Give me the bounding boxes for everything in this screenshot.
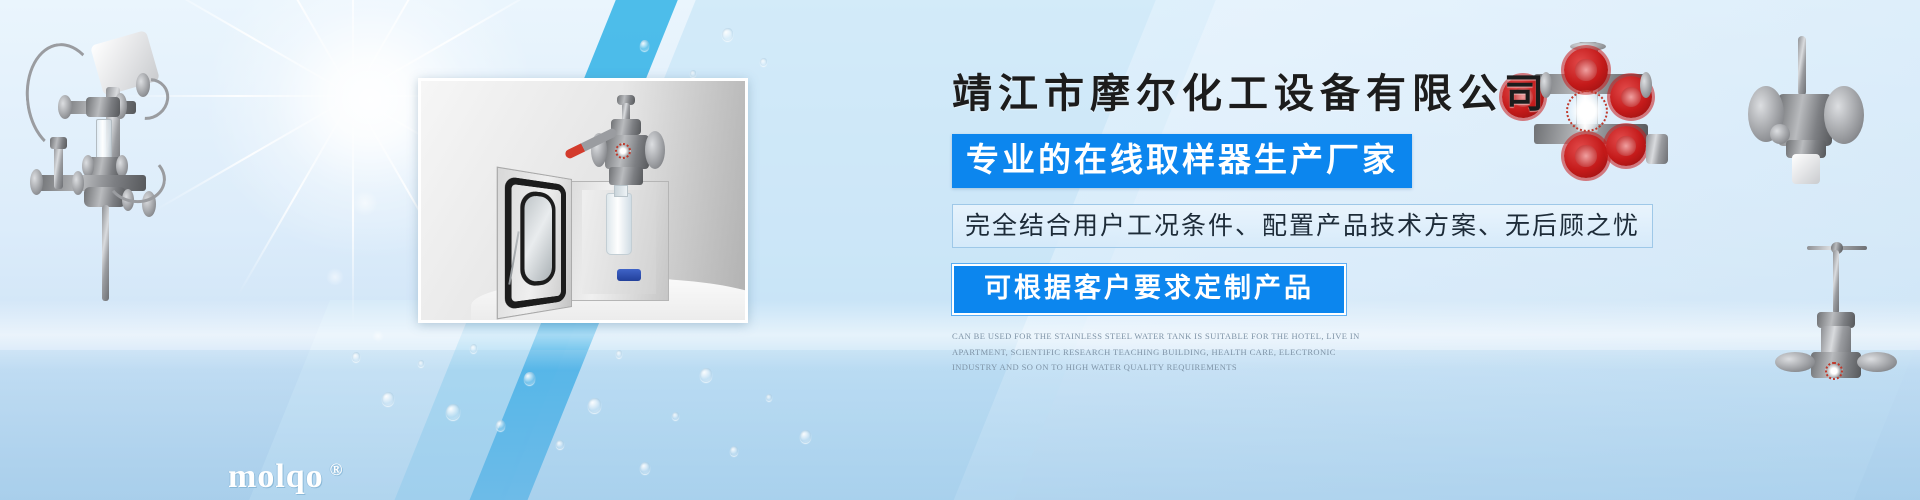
sun-ray-icon	[237, 96, 354, 296]
center-product-photo	[418, 78, 748, 323]
water-droplet	[446, 404, 460, 420]
water-droplet	[382, 392, 394, 406]
water-droplet	[556, 440, 564, 449]
brand-logo: molqo®	[228, 458, 343, 496]
sun-ray-icon	[237, 0, 354, 97]
water-droplet	[690, 70, 696, 77]
registered-trademark-icon: ®	[330, 460, 344, 479]
water-droplet	[640, 40, 649, 51]
water-droplet	[672, 412, 679, 420]
primary-headline: 专业的在线取样器生产厂家	[952, 134, 1412, 188]
water-droplet	[352, 352, 360, 362]
lens-flare-dot	[352, 190, 378, 216]
water-droplet	[700, 368, 712, 382]
secondary-headline: 可根据客户要求定制产品	[952, 264, 1346, 315]
sun-ray-icon	[352, 0, 354, 96]
water-droplet	[418, 360, 424, 367]
sub-headline: 完全结合用户工况条件、配置产品技术方案、无后顾之忧	[952, 204, 1653, 248]
water-droplet	[760, 58, 767, 66]
promo-banner: 靖江市摩尔化工设备有限公司 专业的在线取样器生产厂家 完全结合用户工况条件、配置…	[0, 0, 1920, 500]
water-droplet	[722, 28, 733, 41]
water-droplet	[730, 446, 738, 456]
english-caption: CAN BE USED FOR THE STAINLESS STEEL WATE…	[952, 329, 1372, 376]
banner-text-column: 靖江市摩尔化工设备有限公司 专业的在线取样器生产厂家 完全结合用户工况条件、配置…	[952, 72, 1712, 376]
water-droplet	[588, 398, 601, 413]
water-droplet	[800, 430, 811, 443]
water-droplet	[496, 420, 505, 431]
left-product-image	[10, 25, 190, 325]
brand-logo-text: molqo	[228, 458, 324, 495]
water-droplet	[470, 344, 477, 353]
right-lever-valve-image	[1700, 28, 1890, 188]
water-droplet	[616, 350, 622, 358]
water-droplet	[640, 462, 650, 474]
water-droplet	[766, 394, 772, 401]
right-handwheel-valve-image	[1755, 240, 1905, 400]
lens-flare-dot	[326, 268, 344, 286]
water-droplet	[524, 372, 535, 385]
sun-ray-icon	[352, 96, 354, 326]
company-name: 靖江市摩尔化工设备有限公司	[952, 72, 1712, 116]
